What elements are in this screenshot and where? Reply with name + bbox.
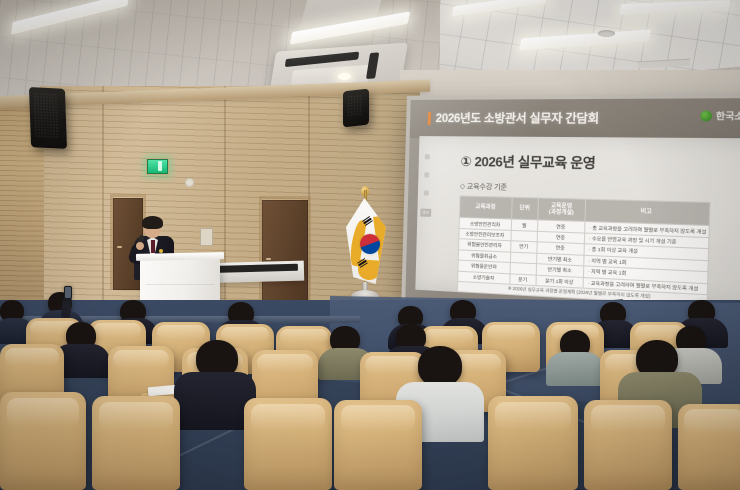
- wall-speaker-left: [29, 87, 67, 149]
- podium-top: [136, 252, 224, 261]
- rail-dot: [425, 154, 430, 159]
- seat[interactable]: [92, 396, 180, 490]
- podium-seam: [146, 284, 214, 285]
- rail-dot: [424, 172, 429, 177]
- trigram-icon: [362, 216, 373, 226]
- rail-dot: [424, 190, 429, 195]
- col-header-operation: 교육운영 (과정개설): [538, 198, 586, 222]
- speaker-mesh: [347, 94, 362, 117]
- presenter-hand: [136, 242, 144, 250]
- slide-data-table: 교육과정 단위 교육운영 (과정개설) 비고: [457, 195, 711, 306]
- presenter-hair: [142, 216, 163, 229]
- seat[interactable]: [334, 400, 422, 490]
- brand-logo-icon: [700, 110, 712, 121]
- door-handle-icon[interactable]: [117, 246, 122, 248]
- recessed-fixture: [598, 30, 615, 37]
- exit-running-man-glyph: [158, 161, 162, 171]
- slide-body: 목차 ① 2026년 실무교육 운영 ◇ 교육수강 기준 교육과정: [415, 136, 740, 310]
- wall-seam: [102, 86, 104, 336]
- slide-header-title: 2026년도 소방관서 실무자 간담회: [436, 110, 600, 127]
- door-handle-icon[interactable]: [266, 258, 271, 260]
- taegukgi-flag-icon: [346, 198, 386, 284]
- col-header-unit: 단위: [511, 197, 538, 220]
- col-header-course: 교육과정: [459, 196, 511, 219]
- seat[interactable]: [488, 396, 578, 490]
- speaker-mesh: [33, 92, 60, 138]
- emergency-exit-sign-icon: [146, 158, 169, 175]
- rail-index-chip: 목차: [420, 208, 431, 216]
- attendee-shoulders: [546, 352, 604, 386]
- conference-hall-photo: 2026년도 소방관서 실무자 간담회 한국소방안전원 목차 ① 2026년 실…: [0, 0, 740, 490]
- door-center[interactable]: [262, 200, 308, 312]
- taeguk-circle-icon: [360, 234, 380, 254]
- slide-heading: ① 2026년 실무교육 운영: [460, 151, 595, 173]
- title-accent-tick-icon: [428, 111, 431, 124]
- organization-brand: 한국소방안전원: [700, 109, 740, 122]
- wall-seam: [224, 86, 226, 336]
- wall-sensor-icon: [185, 178, 194, 187]
- seat[interactable]: [678, 404, 740, 490]
- smartphone-icon: [64, 286, 72, 299]
- phone-screen: [65, 287, 71, 298]
- slide-subheading: ◇ 교육수강 기준: [460, 181, 507, 192]
- wall-speaker-center: [343, 89, 369, 128]
- seat[interactable]: [0, 392, 86, 490]
- slide-header: 2026년도 소방관서 실무자 간담회: [428, 108, 740, 128]
- seat[interactable]: [584, 400, 672, 490]
- wall-switch-plate: [200, 228, 213, 246]
- ceiling-downlight: [338, 73, 351, 80]
- slide-side-rail: 목차: [418, 154, 434, 262]
- presenter-tie: [151, 240, 155, 253]
- ac-vent-1: [285, 52, 359, 67]
- table-body: 소방안전관리자 월 연중 · 총 교육과정을 고려하여 월별로 부족하지 않도록…: [457, 218, 709, 306]
- seat[interactable]: [244, 398, 332, 490]
- ac-vent-2: [366, 52, 379, 79]
- attendee-head: [418, 346, 462, 386]
- door-frame: [259, 196, 311, 312]
- brand-name: 한국소방안전원: [716, 109, 740, 122]
